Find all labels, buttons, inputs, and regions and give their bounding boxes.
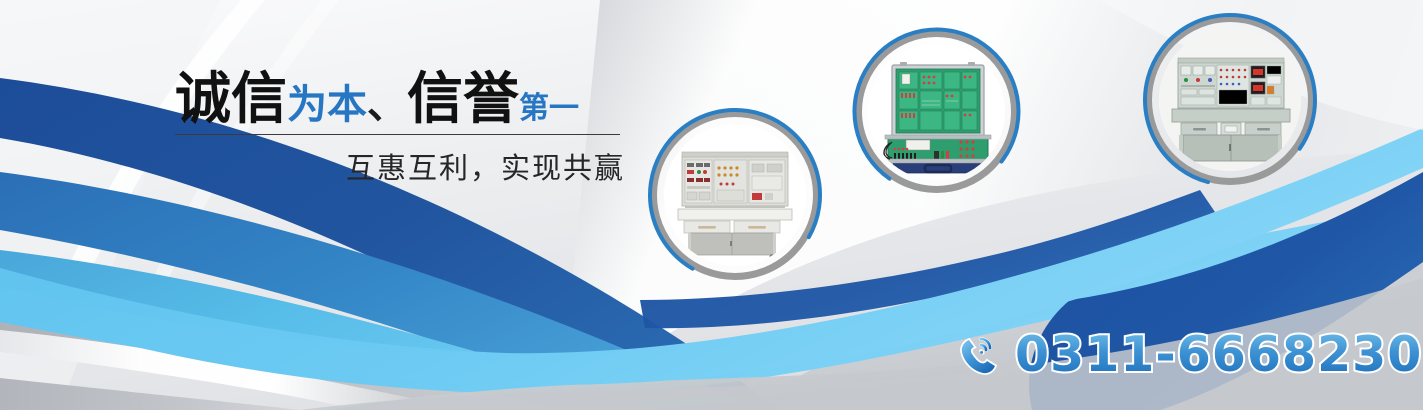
product-circle-3[interactable]: [1145, 15, 1315, 185]
product-circle-2[interactable]: [855, 30, 1018, 193]
headline-part-4: 信誉: [407, 67, 519, 132]
promo-banner: 诚信为本、信誉第一 互惠互利，实现共赢: [0, 0, 1423, 410]
product-arc-3: [1140, 10, 1320, 190]
headline: 诚信为本、信誉第一: [175, 72, 625, 132]
headline-part-3: 、: [367, 82, 407, 128]
headline-divider: [175, 134, 620, 135]
contact-block[interactable]: 0311-66682303 0311-66682303: [955, 326, 1423, 383]
headline-part-2: 为本: [287, 82, 367, 128]
product-circle-1[interactable]: [650, 110, 820, 280]
subtitle: 互惠互利，实现共赢: [175, 145, 625, 187]
product-arc-1: [645, 105, 825, 285]
phone-number-wrap: 0311-66682303 0311-66682303: [1015, 326, 1423, 383]
headline-block: 诚信为本、信誉第一 互惠互利，实现共赢: [175, 72, 625, 187]
headline-part-5: 第一: [519, 91, 579, 126]
headline-part-1: 诚信: [175, 67, 287, 132]
phone-number[interactable]: 0311-66682303: [1015, 326, 1423, 383]
product-arc-2: [850, 25, 1023, 198]
phone-icon: [955, 330, 1005, 380]
